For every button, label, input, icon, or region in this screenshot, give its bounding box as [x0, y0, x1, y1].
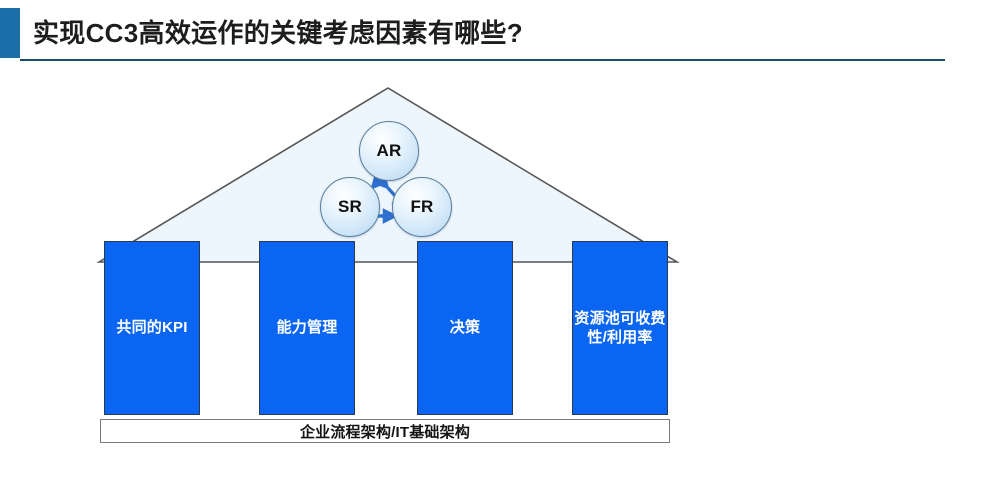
node-label-fr: FR — [410, 197, 433, 217]
house-framework-diagram: AR SR FR 共同的KPI 能力管理 决策 资源池可收费性/利用率 企业流程… — [0, 62, 1000, 502]
pillar-2[interactable]: 能力管理 — [259, 241, 355, 415]
pillar-1[interactable]: 共同的KPI — [104, 241, 200, 415]
title-divider — [20, 59, 945, 61]
pillar-4-label: 资源池可收费性/利用率 — [573, 309, 667, 347]
pillar-1-label: 共同的KPI — [116, 318, 187, 337]
page-title: 实现CC3高效运作的关键考虑因素有哪些? — [33, 13, 523, 50]
node-circle-sr[interactable]: SR — [320, 177, 380, 237]
slide-header: 实现CC3高效运作的关键考虑因素有哪些? — [0, 0, 1000, 62]
node-label-ar: AR — [377, 141, 402, 161]
foundation-bar[interactable]: 企业流程架构/IT基础架构 — [100, 419, 670, 443]
pillar-3-label: 决策 — [450, 318, 480, 337]
foundation-label: 企业流程架构/IT基础架构 — [300, 421, 470, 442]
pillar-3[interactable]: 决策 — [417, 241, 513, 415]
node-circle-fr[interactable]: FR — [392, 177, 452, 237]
pillar-4[interactable]: 资源池可收费性/利用率 — [572, 241, 668, 415]
node-label-sr: SR — [338, 197, 362, 217]
pillar-2-label: 能力管理 — [277, 318, 338, 337]
title-accent-bar — [0, 8, 20, 58]
node-circle-ar[interactable]: AR — [359, 121, 419, 181]
